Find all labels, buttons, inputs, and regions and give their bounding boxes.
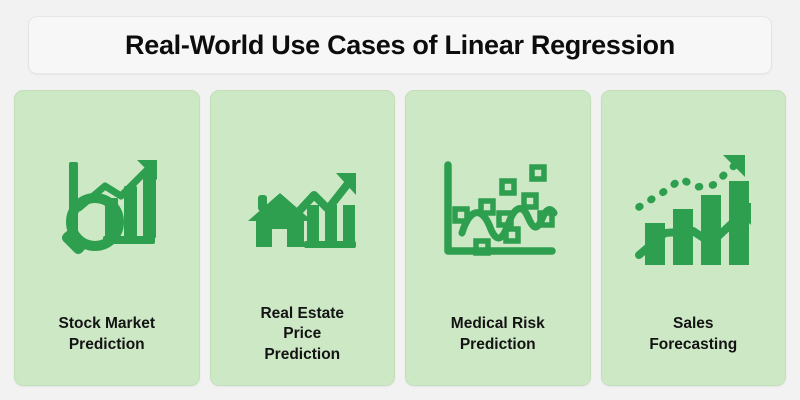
use-case-card-real-estate[interactable]: Real Estate Price Prediction <box>210 90 396 386</box>
bar-chart-magnifier-icon <box>23 105 191 314</box>
scatter-plot-wave-icon <box>414 105 582 314</box>
card-label-line-3: Prediction <box>260 345 344 365</box>
use-case-card-medical-risk[interactable]: Medical Risk Prediction <box>405 90 591 386</box>
use-case-card-stock-market[interactable]: Stock Market Prediction <box>14 90 200 386</box>
use-case-card-label: Sales Forecasting <box>649 314 737 373</box>
card-label-line-1: Stock Market <box>59 314 155 334</box>
infographic-page: Real-World Use Cases of Linear Regressio… <box>0 0 800 400</box>
card-label-line-2: Prediction <box>451 335 545 355</box>
use-case-card-row: Stock Market Prediction <box>14 90 786 386</box>
use-case-card-label: Stock Market Prediction <box>59 314 155 373</box>
card-label-line-2: Price <box>260 324 344 344</box>
card-label-line-1: Medical Risk <box>451 314 545 334</box>
use-case-card-label: Real Estate Price Prediction <box>260 304 344 373</box>
use-case-card-sales-forecasting[interactable]: Sales Forecasting <box>601 90 787 386</box>
bar-chart-forecast-arrows-icon <box>610 105 778 314</box>
card-label-line-2: Forecasting <box>649 335 737 355</box>
house-bar-chart-growth-icon <box>219 105 387 304</box>
card-label-line-2: Prediction <box>59 335 155 355</box>
page-title-bar: Real-World Use Cases of Linear Regressio… <box>28 16 772 74</box>
card-label-line-1: Real Estate <box>260 304 344 324</box>
card-label-line-1: Sales <box>649 314 737 334</box>
page-title: Real-World Use Cases of Linear Regressio… <box>125 30 675 61</box>
use-case-card-label: Medical Risk Prediction <box>451 314 545 373</box>
